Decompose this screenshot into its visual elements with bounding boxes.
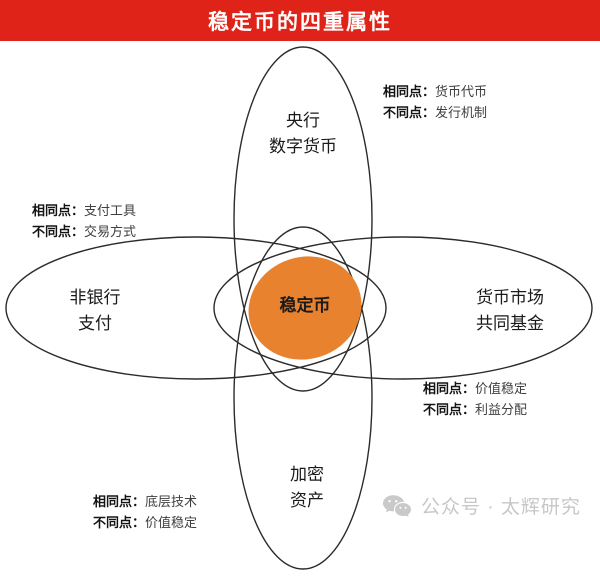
note-left: 相同点：支付工具 不同点：交易方式 bbox=[32, 200, 136, 242]
note-diff-value: 发行机制 bbox=[435, 105, 487, 120]
note-same-key: 相同点： bbox=[423, 381, 475, 396]
center-label-text: 稳定币 bbox=[280, 296, 331, 315]
note-same-key: 相同点： bbox=[32, 203, 84, 218]
note-diff-value: 价值稳定 bbox=[145, 515, 197, 530]
note-same-value: 价值稳定 bbox=[475, 381, 527, 396]
watermark-text: 公众号 · 太辉研究 bbox=[421, 492, 581, 519]
note-bottom-left: 相同点：底层技术 不同点：价值稳定 bbox=[93, 491, 197, 533]
note-bottom-right-same: 相同点：价值稳定 bbox=[423, 378, 527, 399]
diagram-canvas: 稳定币的四重属性 央行 数字货币 非银行 支付 货币市场 共同基金 加密 资产 … bbox=[0, 0, 600, 578]
page-title: 稳定币的四重属性 bbox=[208, 6, 392, 36]
note-left-diff: 不同点：交易方式 bbox=[32, 221, 136, 242]
note-diff-key: 不同点： bbox=[383, 105, 435, 120]
note-same-key: 相同点： bbox=[93, 494, 145, 509]
note-top-right-same: 相同点：货币代币 bbox=[383, 81, 487, 102]
note-diff-value: 利益分配 bbox=[475, 402, 527, 417]
note-same-value: 底层技术 bbox=[145, 494, 197, 509]
note-top-right-diff: 不同点：发行机制 bbox=[383, 102, 487, 123]
center-label-stablecoin: 稳定币 bbox=[248, 291, 362, 316]
watermark: 公众号 · 太辉研究 bbox=[382, 492, 581, 519]
note-same-value: 支付工具 bbox=[84, 203, 136, 218]
note-left-same: 相同点：支付工具 bbox=[32, 200, 136, 221]
note-diff-value: 交易方式 bbox=[84, 224, 136, 239]
note-bottom-right: 相同点：价值稳定 不同点：利益分配 bbox=[423, 378, 527, 420]
note-bottom-left-diff: 不同点：价值稳定 bbox=[93, 512, 197, 533]
note-same-value: 货币代币 bbox=[435, 84, 487, 99]
note-bottom-left-same: 相同点：底层技术 bbox=[93, 491, 197, 512]
note-same-key: 相同点： bbox=[383, 84, 435, 99]
note-bottom-right-diff: 不同点：利益分配 bbox=[423, 399, 527, 420]
note-diff-key: 不同点： bbox=[93, 515, 145, 530]
wechat-icon bbox=[382, 493, 412, 519]
note-diff-key: 不同点： bbox=[423, 402, 475, 417]
title-banner: 稳定币的四重属性 bbox=[0, 0, 600, 41]
note-diff-key: 不同点： bbox=[32, 224, 84, 239]
note-top-right: 相同点：货币代币 不同点：发行机制 bbox=[383, 81, 487, 123]
